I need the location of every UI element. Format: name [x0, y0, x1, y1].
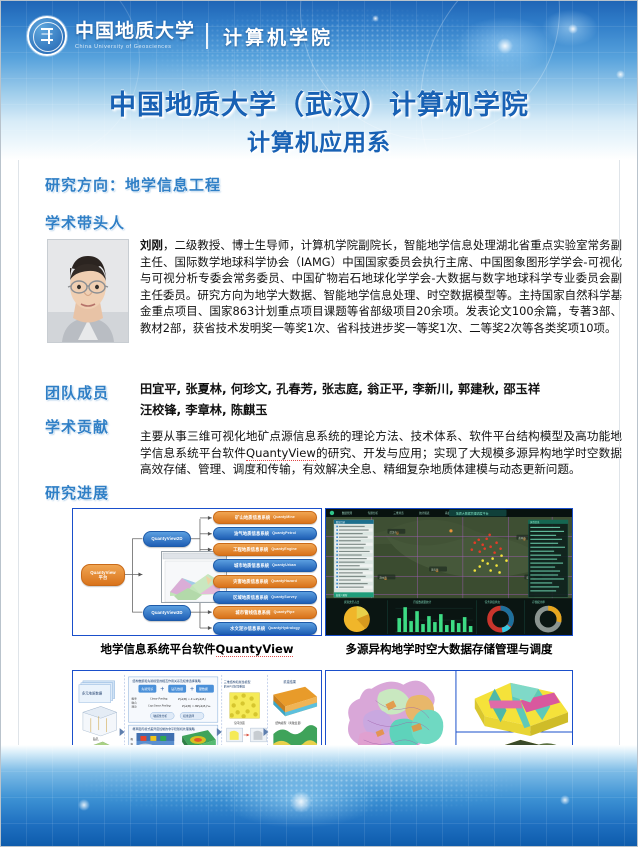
node-label-en: QuantyPipe [274, 610, 295, 614]
node-label-cn: 灾害地质信息系统 [233, 579, 268, 584]
node-label-cn: 平台 [99, 575, 108, 580]
svg-text:重建结果: 重建结果 [283, 679, 297, 684]
node-label-en: QuantyMine [273, 515, 295, 519]
page-header: 中国地质大学 China University of Geosciences 计… [0, 0, 638, 160]
svg-text:概率图与模式差异度控制的非平稳随机处理策略: 概率图与模式差异度控制的非平稳随机处理策略 [133, 726, 195, 731]
contribution-highlight: QuantyView [246, 446, 316, 461]
node-label-cn: 水文泥沙信息系统 [230, 626, 265, 631]
node-label-cn: 矿山地质信息系统 [235, 515, 270, 520]
leader-bio-text: ，二级教授、博士生导师，计算机学院副院长，智能地学信息处理湖北省重点实验室常务副… [140, 238, 622, 335]
svg-text:的MPS协同重建: 的MPS协同重建 [224, 684, 245, 689]
team-member-line: 汪校锋, 李章林, 陈麒玉 [140, 400, 622, 421]
svg-text:存储使用率: 存储使用率 [532, 600, 545, 604]
section-heading-research-direction: 研究方向：地学信息工程 [45, 174, 221, 195]
footer-light-spot [290, 791, 312, 813]
svg-text:钻孔数据: 钻孔数据 [171, 686, 183, 691]
svg-text:黄石市: 黄石市 [431, 567, 439, 571]
leader-portrait-photo [47, 239, 129, 343]
diagram-node-system-6[interactable]: 区域地质信息系统QuantySurvey [213, 591, 317, 604]
svg-text:统计报表: 统计报表 [419, 511, 430, 515]
svg-text:+: + [160, 686, 164, 693]
svg-text:数据管理: 数据管理 [342, 511, 353, 515]
node-label-cn: 区域地质信息系统 [233, 595, 268, 600]
node-label-en: QuantyUrban [272, 563, 296, 567]
node-label: QuantyView2D [151, 536, 182, 541]
svg-text:黄冈市: 黄冈市 [518, 536, 526, 540]
team-member-list: 田宜平, 张夏林, 何珍文, 孔春芳, 张志庭, 翁正平, 李新川, 郭建秋, … [140, 379, 622, 421]
diagram-node-system-1[interactable]: 矿山地质信息系统QuantyMine [213, 511, 317, 524]
figure-bigdata-dashboard[interactable]: 数据管理专题分析三维浏览 统计报表系统设置 地质大数据管理调度平台 [325, 508, 573, 636]
right-margin-rule [619, 160, 620, 745]
school-name-cn: 计算机学院 [223, 23, 333, 50]
svg-text:+: + [190, 686, 194, 693]
node-label-cn: 油气地质信息系统 [234, 531, 269, 536]
node-label-en: QuantyHydrology [268, 626, 300, 630]
section-heading-academic-contribution: 学术贡献 [45, 416, 109, 437]
diagram-node-system-2[interactable]: 油气地质信息系统QuantyPetrol [213, 527, 317, 540]
footer-light-spot [78, 799, 90, 811]
logo-divider [206, 23, 208, 49]
svg-text:Linear Pooling:: Linear Pooling: [149, 698, 168, 701]
leader-biography: 刘刚，二级教授、博士生导师，计算机学院副院长，智能地学信息处理湖北省重点实验室常… [140, 237, 622, 337]
section-heading-research-progress: 研究进展 [45, 482, 109, 503]
svg-text:结构数据和先验模型的相互作用关系及权重选择策略: 结构数据和先验模型的相互作用关系及权重选择策略 [133, 678, 201, 683]
figure-caption-1: 地学信息系统平台软件QuantyView [72, 641, 322, 657]
svg-text:空间剖面: 空间剖面 [234, 721, 245, 725]
section-heading-academic-leader: 学术带头人 [45, 212, 125, 233]
svg-text:结构模型（离散变量）: 结构模型（离散变量） [275, 721, 303, 725]
node-label-en: QuantyEngine [271, 547, 297, 551]
node-label-cn: 城市地质信息系统 [234, 563, 269, 568]
svg-text:概率: 概率 [132, 697, 138, 701]
node-label-en: QuantyHazard [271, 579, 297, 583]
svg-text:专题分析: 专题分析 [368, 511, 379, 515]
diagram-node-platform[interactable]: QuantyView 平台 [81, 564, 125, 586]
header-light-spot [568, 24, 578, 34]
svg-text:任务调度状态: 任务调度状态 [485, 600, 501, 604]
svg-text:多元地质数据: 多元地质数据 [82, 691, 103, 696]
academic-contribution-text: 主要从事三维可视化地矿点源信息系统的理论方法、技术体系、软件平台结构模型及高功能… [140, 428, 622, 478]
node-label-cn: 城市管线信息系统 [235, 610, 270, 615]
svg-text:先验知识: 先验知识 [141, 686, 153, 691]
diagram-node-system-3[interactable]: 工程地质信息系统QuantyEngine [213, 543, 317, 556]
svg-text:钻孔: 钻孔 [93, 736, 99, 741]
diagram-node-system-7[interactable]: 城市管线信息系统QuantyPipe [213, 606, 317, 619]
svg-text:P(A|B) ∝ ΠPᵢ(A|Bᵢ)^ωᵢ: P(A|B) ∝ ΠPᵢ(A|Bᵢ)^ωᵢ [181, 704, 211, 708]
node-label-cn: 工程地质信息系统 [233, 547, 268, 552]
page-title: 中国地质大学（武汉）计算机学院 [0, 83, 638, 122]
diagram-node-system-8[interactable]: 水文泥沙信息系统QuantyHydrology [213, 622, 317, 635]
svg-text:三维浏览: 三维浏览 [393, 511, 404, 515]
node-label-en: QuantyPetrol [272, 531, 296, 535]
caption-text: 地学信息系统平台软件 [101, 642, 216, 656]
left-margin-rule [18, 160, 19, 745]
dashboard-screenshot: 数据管理专题分析三维浏览 统计报表系统设置 地质大数据管理调度平台 [326, 509, 572, 636]
diagram-node-quantyview2d[interactable]: QuantyView2D [143, 531, 191, 547]
diagram-node-quantyview3d[interactable]: QuantyView3D [143, 605, 191, 621]
node-label: QuantyView3D [151, 610, 182, 615]
leader-name: 刘刚 [140, 238, 163, 252]
header-light-spot [497, 38, 513, 54]
team-member-line: 田宜平, 张夏林, 何珍文, 孔春芳, 张志庭, 翁正平, 李新川, 郭建秋, … [140, 379, 622, 400]
svg-text:荆州市: 荆州市 [380, 575, 388, 579]
university-name-cn: 中国地质大学 [75, 22, 195, 42]
svg-text:加载 / 刷新: 加载 / 刷新 [336, 593, 348, 597]
section-heading-team-members: 团队成员 [45, 382, 109, 403]
svg-text:理论: 理论 [132, 704, 138, 708]
svg-text:月度数据量统计: 月度数据量统计 [413, 600, 431, 604]
header-light-spot [372, 15, 379, 22]
university-name-en: China University of Geosciences [75, 44, 195, 50]
header-light-spot [616, 70, 625, 79]
svg-text:资源类型占比: 资源类型占比 [344, 600, 360, 604]
svg-text:武汉市: 武汉市 [389, 530, 397, 534]
poster-body: 研究方向：地学信息工程 学术带头人 团队成员 学术贡献 研究进展 [0, 160, 638, 745]
svg-text:P(A|B) = Σ wᵢPᵢ(A|Bᵢ): P(A|B) = Σ wᵢPᵢ(A|Bᵢ) [177, 697, 206, 701]
node-label-en: QuantySurvey [271, 595, 297, 599]
footer-worldmap-dots [64, 753, 587, 824]
svg-text:Log-Linear Pooling:: Log-Linear Pooling: [147, 704, 171, 707]
svg-text:融合: 融合 [132, 700, 138, 704]
figure-caption-2: 多源异构地学时空大数据存储管理与调度 [325, 641, 573, 657]
svg-text:地质大数据管理调度平台: 地质大数据管理调度平台 [456, 510, 489, 515]
svg-text:三维结构和属性模型: 三维结构和属性模型 [224, 679, 251, 684]
figure-quantyview-architecture[interactable]: QuantyView 平台 QuantyView2D QuantyView3D [72, 508, 322, 636]
university-logo-lockup: 中国地质大学 China University of Geosciences 计… [27, 16, 333, 56]
page-subtitle: 计算机应用系 [0, 123, 638, 157]
diagram-node-system-5[interactable]: 灾害地质信息系统QuantyHazard [213, 575, 317, 588]
svg-text:敏感性分析: 敏感性分析 [153, 714, 167, 718]
page-footer [0, 745, 638, 847]
svg-text:权重选择: 权重选择 [183, 714, 194, 718]
caption-highlight: QuantyView [216, 642, 294, 657]
footer-light-spot [560, 795, 570, 805]
svg-text:硬数据: 硬数据 [199, 686, 208, 691]
diagram-node-system-4[interactable]: 城市地质信息系统QuantyUrban [213, 559, 317, 572]
university-seal-icon [27, 16, 67, 56]
poster-page: 中国地质大学 China University of Geosciences 计… [0, 0, 638, 847]
